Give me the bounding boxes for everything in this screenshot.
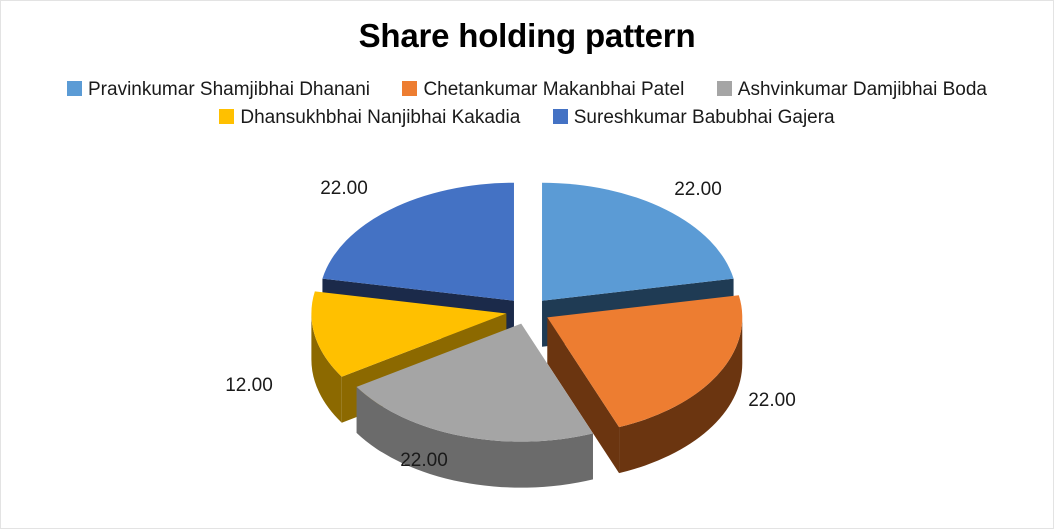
data-label-sureshkumar: 22.00 [320,178,368,199]
data-label-dhansukhbhai: 12.00 [225,375,273,396]
data-label-pravinkumar: 22.00 [674,179,722,200]
pie-chart-graphic: 22.00 22.00 22.00 12.00 22.00 [1,161,1054,530]
legend-label-pravinkumar: Pravinkumar Shamjibhai Dhanani [88,80,370,99]
data-label-ashvinkumar: 22.00 [400,450,448,471]
legend-item-pravinkumar[interactable]: Pravinkumar Shamjibhai Dhanani [67,80,370,99]
legend-swatch-dhansukhbhai [219,109,234,124]
legend-item-chetankumar[interactable]: Chetankumar Makanbhai Patel [402,80,684,99]
pie-slices [311,183,742,488]
chart-title: Share holding pattern [1,17,1053,55]
legend-swatch-chetankumar [402,81,417,96]
legend-label-sureshkumar: Sureshkumar Babubhai Gajera [574,108,835,127]
legend-item-ashvinkumar[interactable]: Ashvinkumar Damjibhai Boda [717,80,987,99]
legend-swatch-ashvinkumar [717,81,732,96]
chart-legend: Pravinkumar Shamjibhai Dhanani Chetankum… [1,80,1053,136]
legend-label-dhansukhbhai: Dhansukhbhai Nanjibhai Kakadia [240,108,520,127]
legend-row-2: Dhansukhbhai Nanjibhai Kakadia Sureshkum… [1,108,1053,127]
data-label-chetankumar: 22.00 [748,390,796,411]
legend-row-1: Pravinkumar Shamjibhai Dhanani Chetankum… [1,80,1053,99]
legend-item-dhansukhbhai[interactable]: Dhansukhbhai Nanjibhai Kakadia [219,108,520,127]
legend-swatch-pravinkumar [67,81,82,96]
legend-label-chetankumar: Chetankumar Makanbhai Patel [423,80,684,99]
chart-container: Share holding pattern Pravinkumar Shamji… [0,0,1054,529]
legend-label-ashvinkumar: Ashvinkumar Damjibhai Boda [738,80,987,99]
legend-item-sureshkumar[interactable]: Sureshkumar Babubhai Gajera [553,108,835,127]
legend-swatch-sureshkumar [553,109,568,124]
